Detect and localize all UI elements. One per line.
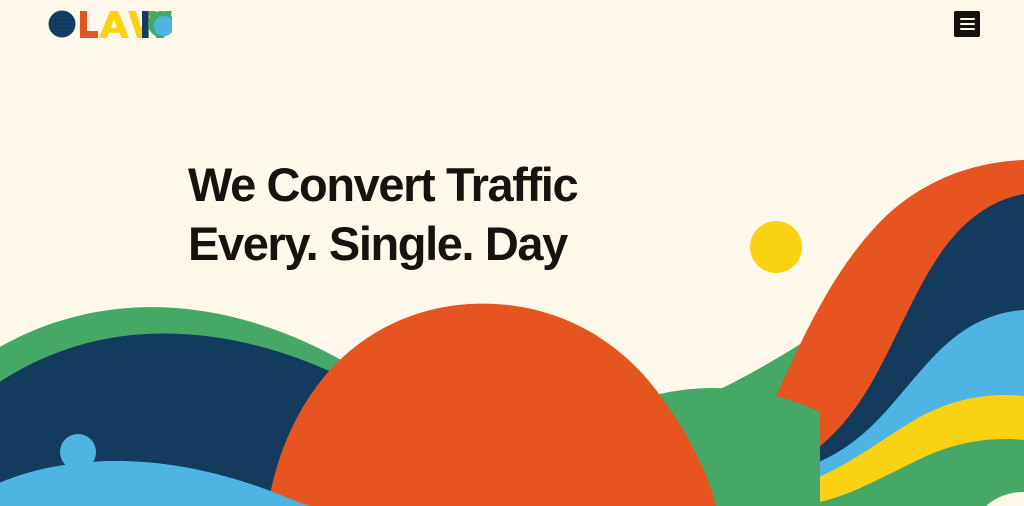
logo-letter-l [80,11,98,38]
hamburger-bar-middle [960,23,975,25]
logo-letter-o-first [49,11,76,38]
shape-sun-circle [750,221,802,273]
page-title: We Convert Traffic Every. Single. Day [188,155,577,273]
hamburger-bar-bottom [960,28,975,30]
hamburger-menu-button[interactable] [954,11,980,37]
hero-title-line-1: We Convert Traffic [188,155,577,214]
site-header [0,0,1024,48]
logo-letter-a [99,11,129,38]
hero-page: We Convert Traffic Every. Single. Day [0,0,1024,506]
hamburger-bar-top [960,18,975,20]
shape-light-blue-dot-left [60,434,96,470]
olavivo-logo-mark [48,9,172,39]
hero-title-line-2: Every. Single. Day [188,214,577,273]
olavivo-logo[interactable] [48,9,172,39]
hero-content: We Convert Traffic Every. Single. Day [188,155,577,273]
logo-letter-i [142,11,149,38]
